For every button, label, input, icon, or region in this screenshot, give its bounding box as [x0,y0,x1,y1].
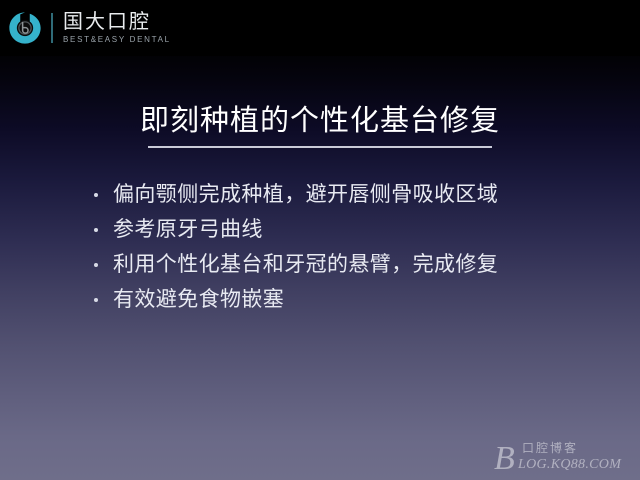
bullet-list: 偏向颚侧完成种植，避开唇侧骨吸收区域 参考原牙弓曲线 利用个性化基台和牙冠的悬臂… [92,181,592,321]
bullet-dot-icon [94,228,98,232]
logo-divider [51,13,53,43]
list-item-label: 偏向颚侧完成种植，避开唇侧骨吸收区域 [113,183,498,206]
list-item: 参考原牙弓曲线 [92,216,592,243]
list-item-label: 利用个性化基台和牙冠的悬臂，完成修复 [113,253,498,276]
bullet-dot-icon [94,263,98,267]
watermark-url: LOG.KQ88.COM [518,457,621,472]
presentation-slide: 国大口腔 BEST&EASY DENTAL 即刻种植的个性化基台修复 偏向颚侧完… [0,0,640,480]
list-item: 偏向颚侧完成种植，避开唇侧骨吸收区域 [92,181,592,208]
brand-logo: 国大口腔 BEST&EASY DENTAL [8,6,171,50]
list-item-label: 有效避免食物嵌塞 [113,288,284,311]
bullet-dot-icon [94,298,98,302]
list-item-label: 参考原牙弓曲线 [113,218,263,241]
logo-text-block: 国大口腔 BEST&EASY DENTAL [63,12,171,44]
page-title: 即刻种植的个性化基台修复 [140,102,500,140]
bullet-dot-icon [94,193,98,197]
title-underline-rule [148,146,492,148]
watermark-name-cn: 口腔博客 [522,442,578,455]
watermark-initial: B [494,442,515,476]
list-item: 利用个性化基台和牙冠的悬臂，完成修复 [92,251,592,278]
slide-title-wrap: 即刻种植的个性化基台修复 [0,102,640,140]
brand-name-cn: 国大口腔 [63,12,171,32]
watermark: B 口腔博客 LOG.KQ88.COM [494,440,640,478]
brand-name-en: BEST&EASY DENTAL [63,36,171,44]
list-item: 有效避免食物嵌塞 [92,286,592,313]
b-droplet-logo-icon [8,11,42,45]
